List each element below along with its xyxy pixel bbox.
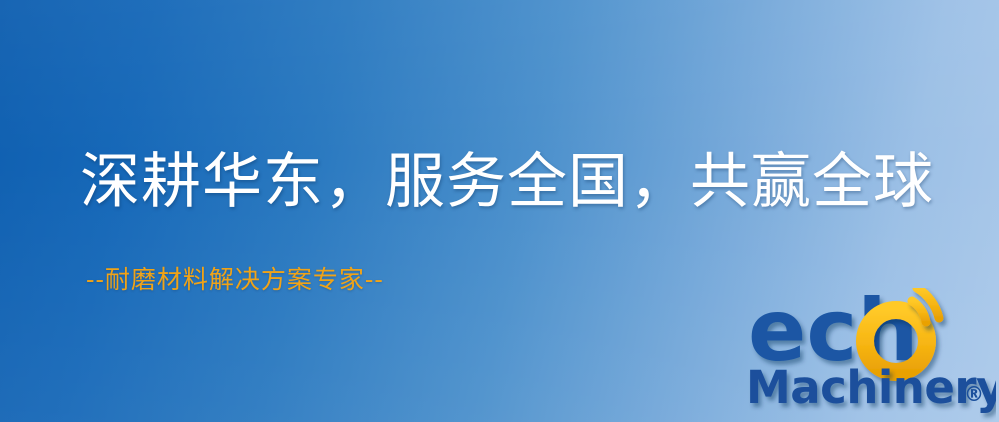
logo-tagline-text: Machinery — [746, 361, 996, 414]
registered-trademark-symbol: ® — [964, 382, 984, 406]
banner-headline: 深耕华东，服务全国，共赢全球 — [80, 152, 934, 212]
logo-tagline: Machinery — [746, 361, 996, 414]
banner-subtitle: --耐磨材料解决方案专家-- — [86, 266, 384, 294]
hero-banner: 深耕华东，服务全国，共赢全球 --耐磨材料解决方案专家-- — [0, 0, 999, 422]
company-logo: ech Machinery ® — [744, 288, 996, 422]
